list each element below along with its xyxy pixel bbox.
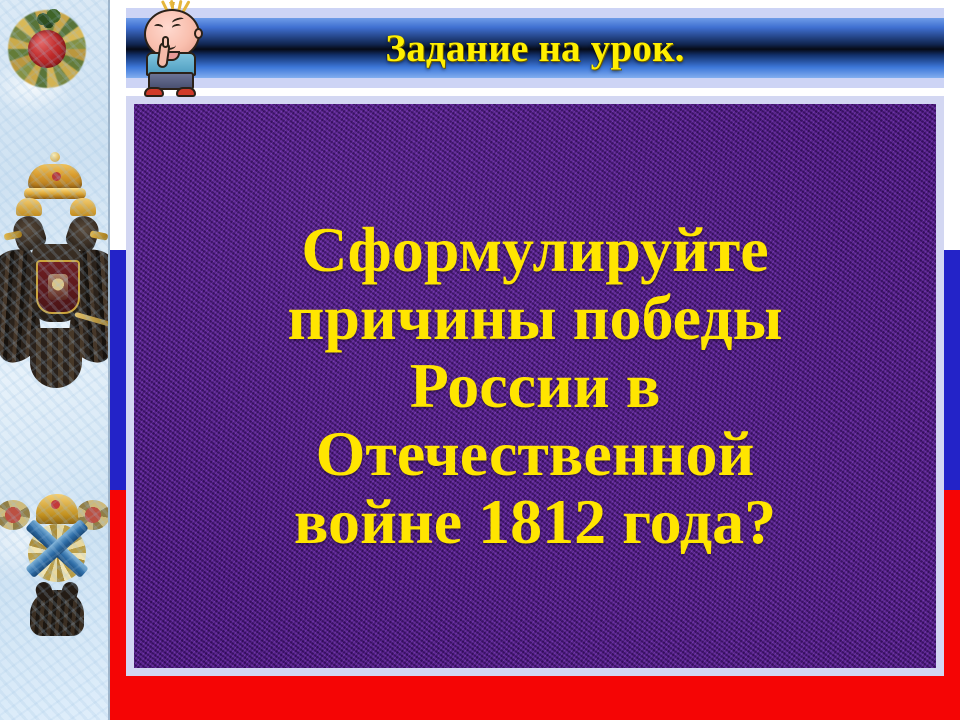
badge-sash-a-shape [25,519,89,578]
laurel-leaves-shape [34,6,64,28]
page-title: Задание на урок. [385,26,684,71]
badge-sash-b-shape [25,519,89,578]
question-line: причины победы [287,284,782,352]
eagle-right-crown-shape [70,198,96,216]
badge-crown-shape [36,494,78,524]
heraldic-side-panel [0,0,110,720]
double-headed-eagle-icon [2,198,110,438]
question-line: войне 1812 года? [294,488,776,556]
question-panel: Сформулируйте причины победы России в От… [134,104,936,668]
order-star-icon [8,10,86,88]
badge-starburst-shape [28,524,86,582]
tricolor-ribbon-right [944,0,960,720]
imperial-crown-icon [22,150,88,202]
boy-finger-shape [162,36,169,48]
eagle-chest-shield-shape [36,260,80,314]
thinking-boy-icon [132,2,210,98]
eagle-left-crown-shape [16,198,42,216]
crown-band-shape [24,188,86,199]
crown-orb-shape [50,152,60,162]
eagle-right-beak-shape [89,230,108,241]
title-banner: Задание на урок. [126,8,944,88]
crown-cap-shape [28,164,82,190]
badge-crown-jewel-shape [51,500,60,509]
eagle-left-beak-shape [3,230,22,241]
question-line: России в [410,352,661,420]
slide-canvas: Задание на урок. Сформулируйте причины п… [0,0,960,720]
eagle-right-head-shape [63,212,102,254]
tricolor-ribbon-left [110,0,126,720]
eagle-left-head-shape [9,212,48,254]
title-banner-gradient: Задание на урок. [126,18,944,78]
badge-small-eagle-shape [30,590,84,636]
badge-right-plume-shape [76,500,110,530]
boy-ear-shape [194,28,203,39]
eagle-right-wing-shape [66,248,110,364]
crown-jewel-shape [52,172,61,181]
saint-andrew-order-icon [6,470,106,660]
content-frame: Сформулируйте причины победы России в От… [126,96,944,676]
eagle-body-shape [32,244,80,322]
eagle-scepter-shape [74,312,110,329]
shield-rider-figure-shape [48,274,68,300]
boy-right-shoe-shape [176,87,196,97]
red-gem-shape [28,30,66,68]
badge-left-plume-shape [0,500,30,530]
question-line: Отечественной [316,420,755,488]
boy-left-shoe-shape [144,87,164,97]
bottom-red-band [110,674,960,720]
wreath-shape [8,10,86,88]
eagle-left-wing-shape [0,248,44,364]
eagle-tail-shape [30,328,82,388]
question-line: Сформулируйте [301,216,768,284]
